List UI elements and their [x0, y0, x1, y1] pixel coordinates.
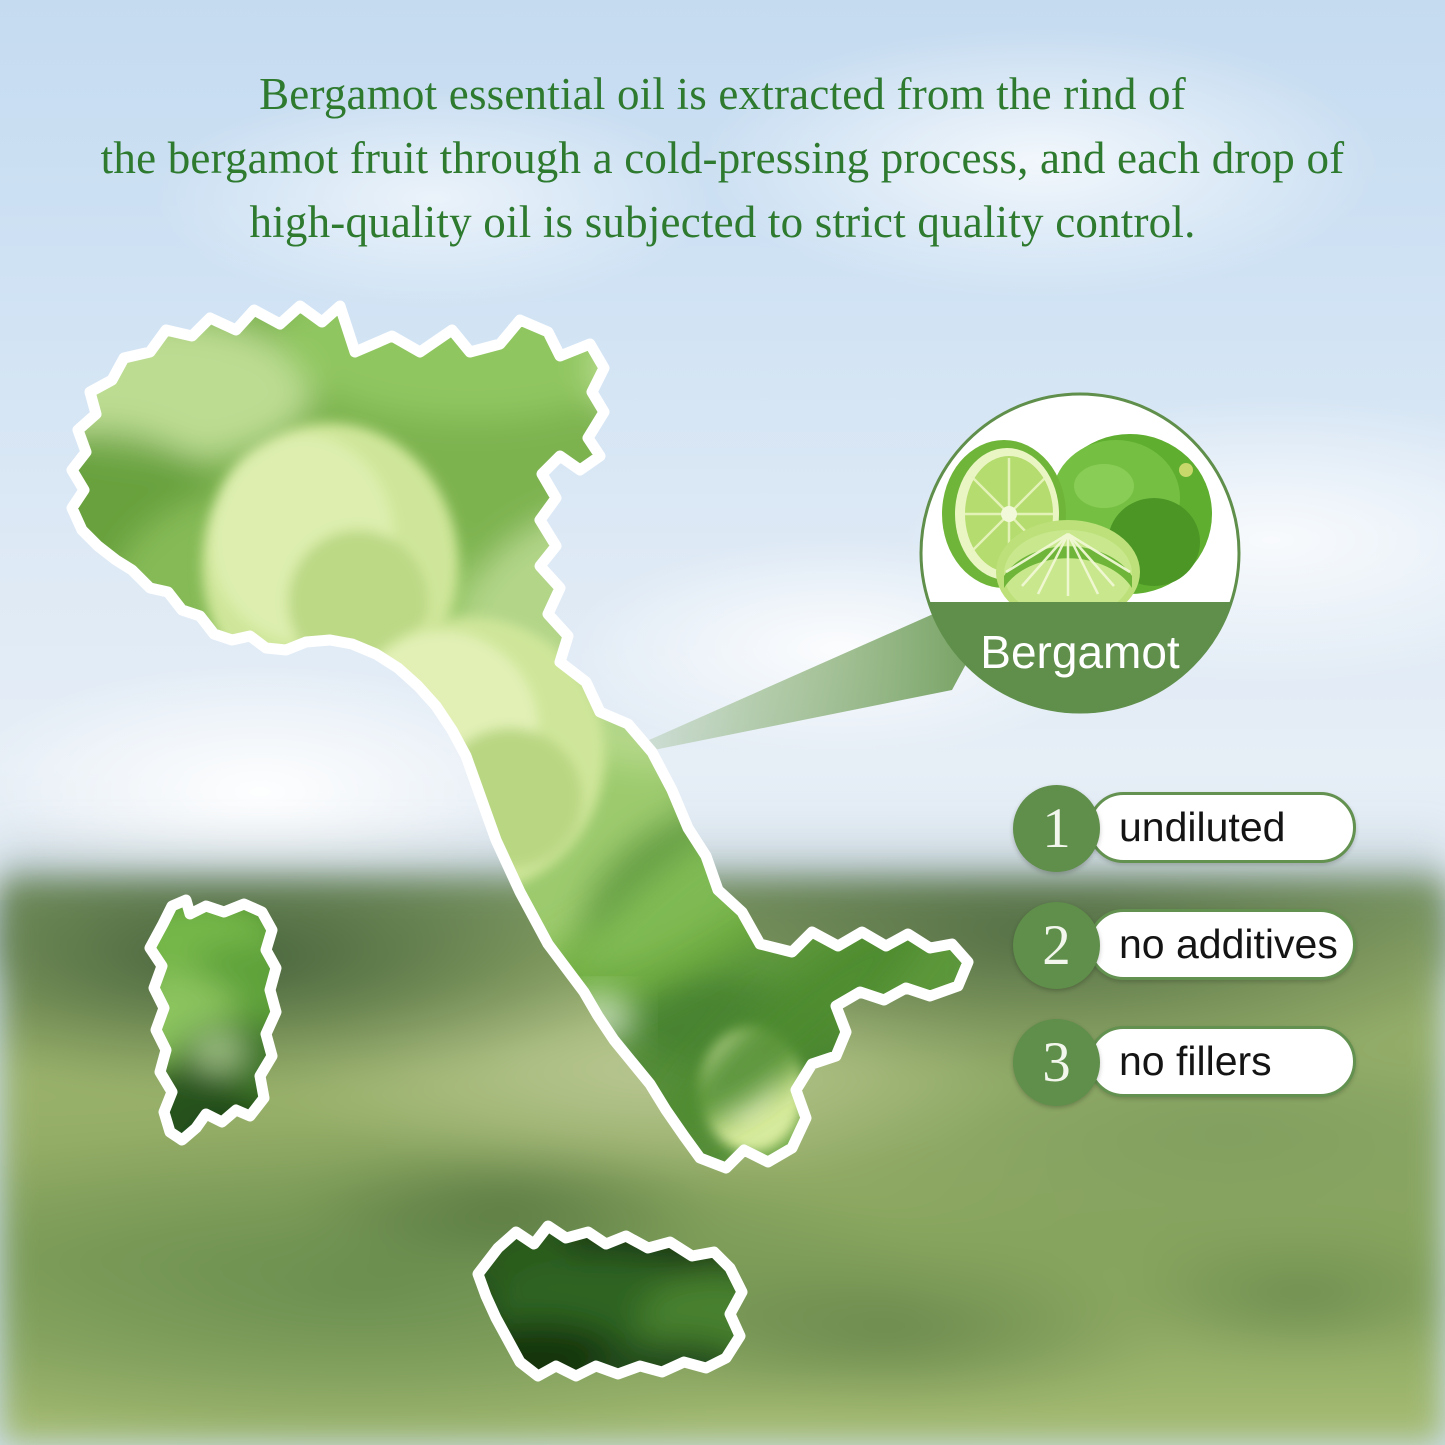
poster-canvas: Bergamot essential oil is extracted from… — [0, 0, 1445, 1445]
feature-number-2: 2 — [1013, 902, 1100, 989]
feature-label-3: no fillers — [1119, 1041, 1272, 1082]
feature-pill-3[interactable]: no fillers — [1088, 1026, 1356, 1097]
feature-pill-1[interactable]: undiluted — [1088, 792, 1356, 863]
map-region-sardinia — [150, 900, 276, 1140]
callout-label: Bergamot — [918, 625, 1242, 679]
feature-pill-2[interactable]: no additives — [1088, 909, 1356, 980]
feature-label-1: undiluted — [1119, 807, 1285, 848]
bergamot-callout-circle: Bergamot — [918, 382, 1242, 724]
feature-label-2: no additives — [1119, 924, 1338, 965]
feature-number-1: 1 — [1013, 785, 1100, 872]
map-region-sicily — [478, 1226, 742, 1376]
feature-number-3: 3 — [1013, 1019, 1100, 1106]
